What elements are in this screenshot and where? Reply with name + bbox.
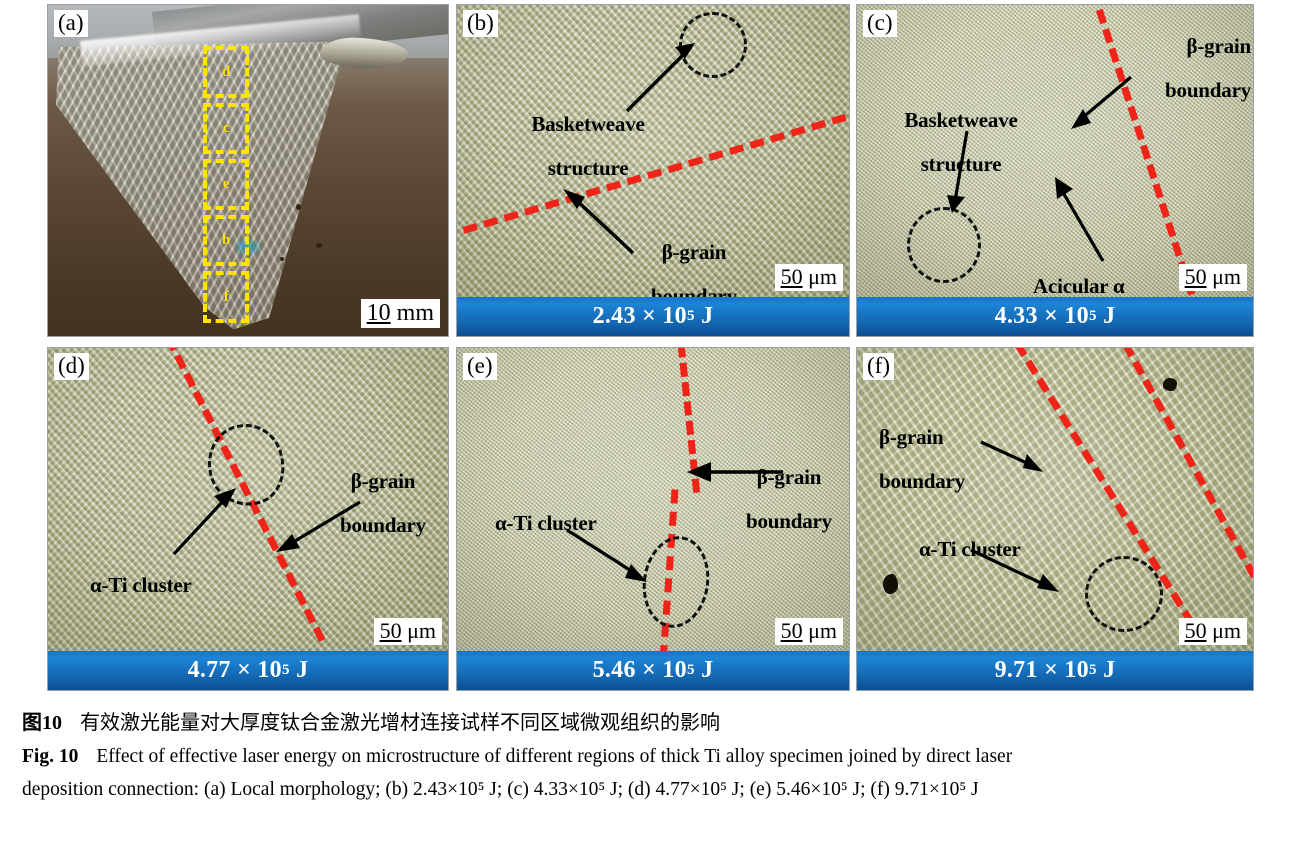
energy-caption-f: 9.71 × 105 J xyxy=(857,651,1253,690)
annotation-beta-line1: β-grain xyxy=(662,240,727,264)
annotation-alpha-ti-cluster: α-Ti cluster xyxy=(919,516,1109,560)
scale-bar-10mm: 10 mm xyxy=(361,299,440,328)
annotation-beta-line2: boundary xyxy=(746,509,832,533)
micrograph-inclusion-blob xyxy=(1163,378,1177,391)
energy-caption-e: 5.46 × 105 J xyxy=(457,651,849,690)
macro-speck xyxy=(316,243,322,248)
energy-exponent: 5 xyxy=(1089,308,1097,325)
scale-bar-50um: 50 μm xyxy=(775,618,843,645)
annotation-basketweave-line2: structure xyxy=(548,156,629,180)
scale-bar-value: 10 xyxy=(367,300,391,326)
caption-chinese-text: 有效激光能量对大厚度钛合金激光增材连接试样不同区域微观组织的影响 xyxy=(80,712,720,734)
annotation-basketweave-line1: Basketweave xyxy=(531,112,644,136)
panel-d-image: β-grain boundary α-Ti cluster xyxy=(48,348,448,651)
roi-label-d: d xyxy=(222,64,230,81)
figure-panel-grid: d c e b f (a) 10 mm xyxy=(47,4,1254,691)
panel-label-e: (e) xyxy=(463,353,497,380)
basketweave-roi-circle xyxy=(907,207,981,283)
caption-item-d: (d) 4.77×10⁵ J xyxy=(628,779,740,800)
energy-mantissa: 4.33 xyxy=(995,303,1038,330)
panel-c-image: β-grain boundary Basketweave structure A… xyxy=(857,5,1253,297)
panel-a-local-morphology[interactable]: d c e b f (a) 10 mm xyxy=(47,4,449,337)
roi-label-e: e xyxy=(223,176,230,193)
annotation-beta-line1: β-grain xyxy=(1187,34,1252,58)
scale-bar-50um: 50 μm xyxy=(775,264,843,291)
energy-unit: J xyxy=(1103,657,1115,684)
energy-times-sign: × xyxy=(1044,657,1058,684)
annotation-alpha-ti-text: α-Ti cluster xyxy=(90,573,192,597)
energy-base: 10 xyxy=(257,657,282,684)
annotation-alpha-ti-text: α-Ti cluster xyxy=(919,537,1021,561)
annotation-beta-grain-boundary: β-grain boundary xyxy=(879,404,1035,492)
scale-bar-unit: mm xyxy=(397,300,434,326)
energy-exponent: 5 xyxy=(687,308,695,325)
scale-bar-50um: 50 μm xyxy=(1179,618,1247,645)
energy-unit: J xyxy=(701,303,713,330)
figure-caption: 图10有效激光能量对大厚度钛合金激光增材连接试样不同区域微观组织的影响 Fig.… xyxy=(22,707,1278,806)
panel-label-a: (a) xyxy=(54,10,88,37)
alpha-ti-cluster-arrow xyxy=(166,476,250,560)
energy-mantissa: 5.46 xyxy=(593,657,636,684)
caption-item-a: (a) Local morphology xyxy=(204,779,375,800)
annotation-beta-line1: β-grain xyxy=(879,425,944,449)
alpha-ti-cluster-roi xyxy=(1085,556,1163,632)
macro-speck xyxy=(296,204,301,210)
panel-f-micrograph[interactable]: β-grain boundary α-Ti cluster (f) 50 μm … xyxy=(856,347,1254,691)
energy-base: 10 xyxy=(662,303,687,330)
annotation-beta-grain-boundary: β-grain boundary xyxy=(603,219,785,297)
panel-label-b: (b) xyxy=(463,10,498,37)
panel-a-image: d c e b f xyxy=(48,5,448,336)
caption-chinese-figure-id: 图10 xyxy=(22,712,62,734)
annotation-basketweave-line2: structure xyxy=(921,152,1002,176)
roi-box-f[interactable]: f xyxy=(203,271,249,322)
roi-label-f: f xyxy=(224,289,229,306)
energy-unit: J xyxy=(296,657,308,684)
scale-bar-value: 50 xyxy=(1185,618,1207,643)
micrograph-inclusion-blob xyxy=(883,574,898,594)
annotation-acicular-text: Acicular α xyxy=(1033,274,1125,297)
annotation-beta-line2: boundary xyxy=(651,284,737,297)
energy-mantissa: 9.71 xyxy=(995,657,1038,684)
energy-times-sign: × xyxy=(642,657,656,684)
roi-label-c: c xyxy=(223,120,230,137)
scale-bar-value: 50 xyxy=(380,618,402,643)
annotation-alpha-ti-cluster: α-Ti cluster xyxy=(495,490,685,534)
caption-item-f: (f) 9.71×10⁵ J xyxy=(870,779,978,800)
energy-caption-d: 4.77 × 105 J xyxy=(48,651,448,690)
annotation-beta-grain-boundary: β-grain boundary xyxy=(320,448,446,536)
roi-box-e[interactable]: e xyxy=(203,159,249,210)
annotation-beta-line2: boundary xyxy=(340,513,426,537)
macro-speck xyxy=(280,257,284,261)
panel-d-micrograph[interactable]: β-grain boundary α-Ti cluster (d) 50 μm … xyxy=(47,347,449,691)
energy-exponent: 5 xyxy=(1089,662,1097,679)
annotation-beta-grain-boundary: β-grain boundary xyxy=(1053,13,1251,101)
panel-f-image: β-grain boundary α-Ti cluster xyxy=(857,348,1253,651)
energy-base: 10 xyxy=(662,657,687,684)
caption-chinese: 图10有效激光能量对大厚度钛合金激光增材连接试样不同区域微观组织的影响 xyxy=(22,707,1278,740)
energy-caption-c: 4.33 × 105 J xyxy=(857,297,1253,336)
energy-caption-b: 2.43 × 105 J xyxy=(457,297,849,336)
panel-c-micrograph[interactable]: β-grain boundary Basketweave structure A… xyxy=(856,4,1254,337)
annotation-beta-line1: β-grain xyxy=(351,469,416,493)
scale-bar-50um: 50 μm xyxy=(374,618,442,645)
energy-base: 10 xyxy=(1064,657,1089,684)
annotation-beta-line2: boundary xyxy=(879,469,965,493)
scale-bar-value: 50 xyxy=(781,264,803,289)
energy-times-sign: × xyxy=(642,303,656,330)
caption-item-b: (b) 2.43×10⁵ J xyxy=(385,779,497,800)
annotation-alpha-ti-text: α-Ti cluster xyxy=(495,511,597,535)
roi-label-b: b xyxy=(222,232,230,249)
caption-english-line-2: deposition connection: (a) Local morphol… xyxy=(22,773,1278,806)
energy-unit: J xyxy=(1103,303,1115,330)
energy-exponent: 5 xyxy=(687,662,695,679)
annotation-basketweave: Basketweave structure xyxy=(493,91,683,179)
energy-unit: J xyxy=(701,657,713,684)
caption-english-lead: deposition connection: xyxy=(22,779,204,800)
annotation-basketweave-line1: Basketweave xyxy=(904,108,1017,132)
panel-label-c: (c) xyxy=(863,10,897,37)
scale-bar-unit: μm xyxy=(407,618,436,643)
scale-bar-unit: μm xyxy=(808,264,837,289)
caption-figure-id: Fig. 10 xyxy=(22,746,78,767)
energy-times-sign: × xyxy=(1044,303,1058,330)
panel-b-micrograph[interactable]: Basketweave structure β-grain boundary (… xyxy=(456,4,850,337)
energy-mantissa: 2.43 xyxy=(593,303,636,330)
caption-item-e: (e) 5.46×10⁵ J xyxy=(750,779,860,800)
roi-box-c[interactable]: c xyxy=(203,103,249,154)
scale-bar-unit: μm xyxy=(1212,618,1241,643)
panel-label-d: (d) xyxy=(54,353,89,380)
annotation-alpha-ti-cluster: α-Ti cluster xyxy=(90,552,290,596)
caption-english-text-1: Effect of effective laser energy on micr… xyxy=(96,746,1012,767)
panel-e-micrograph[interactable]: β-grain boundary α-Ti cluster (e) 50 μm … xyxy=(456,347,850,691)
caption-item-c: (c) 4.33×10⁵ J xyxy=(507,779,617,800)
roi-box-b[interactable]: b xyxy=(203,215,249,266)
energy-times-sign: × xyxy=(237,657,251,684)
scale-bar-value: 50 xyxy=(1185,264,1207,289)
roi-box-d[interactable]: d xyxy=(203,46,249,97)
panel-row-bottom: β-grain boundary α-Ti cluster (d) 50 μm … xyxy=(47,347,1254,691)
energy-mantissa: 4.77 xyxy=(188,657,231,684)
panel-e-image: β-grain boundary α-Ti cluster xyxy=(457,348,849,651)
panel-row-top: d c e b f (a) 10 mm xyxy=(47,4,1254,337)
scale-bar-unit: μm xyxy=(808,618,837,643)
scale-bar-value: 50 xyxy=(781,618,803,643)
micrograph-vignette xyxy=(857,348,1253,651)
energy-exponent: 5 xyxy=(282,662,290,679)
annotation-beta-line1: β-grain xyxy=(757,465,822,489)
panel-b-image: Basketweave structure β-grain boundary xyxy=(457,5,849,297)
annotation-beta-line2: boundary xyxy=(1165,78,1251,102)
annotation-basketweave: Basketweave structure xyxy=(865,87,1057,175)
scale-bar-unit: μm xyxy=(1212,264,1241,289)
energy-base: 10 xyxy=(1064,303,1089,330)
caption-english-line-1: Fig. 10Effect of effective laser energy … xyxy=(22,740,1278,773)
scale-bar-50um: 50 μm xyxy=(1179,264,1247,291)
panel-label-f: (f) xyxy=(863,353,894,380)
annotation-beta-grain-boundary: β-grain boundary xyxy=(725,444,849,532)
